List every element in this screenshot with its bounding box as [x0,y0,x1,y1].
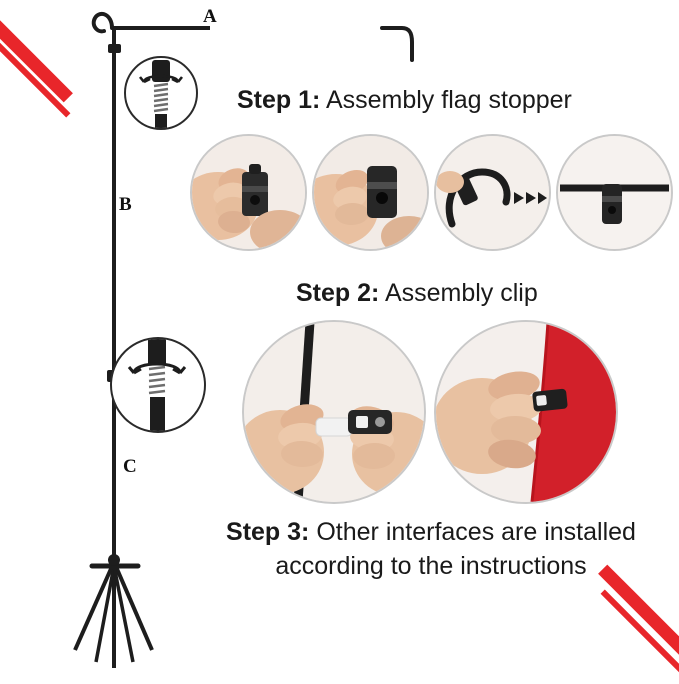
detail-circle-mid-joint [110,337,206,433]
step-3-text: Other interfaces are installed [316,518,636,546]
detail-circle-top-joint [124,56,198,130]
pole-label-c: C [123,456,137,478]
step-2-heading: Step 2: Assembly clip [296,279,538,308]
pole-label-a: A [203,6,217,28]
step-1-number: Step 1: [237,86,320,114]
step-1-heading: Step 1: Assembly flag stopper [237,86,572,115]
step-3-text-line2: according to the instructions [186,549,676,583]
photo-hand-holding-stopper [190,134,307,251]
step-3-number: Step 3: [226,518,309,546]
instruction-sheet: A B C Step 1: Assembly flag stopper [0,0,679,679]
pole-hook-right [380,10,420,70]
step-2-text: Assembly clip [385,279,538,307]
photo-stopper-sliding-onto-rod [434,134,551,251]
photo-hands-attaching-clip-to-pole [242,320,426,504]
photo-clip-holding-red-flag [434,320,618,504]
photo-stopper-installed-on-crossbar [556,134,673,251]
step-2-number: Step 2: [296,279,379,307]
pole-label-b: B [119,194,132,216]
step-1-text: Assembly flag stopper [326,86,572,114]
flag-stand-diagram: A B C [0,0,210,679]
photo-stopper-closeup [312,134,429,251]
step-3-heading: Step 3: Other interfaces are installed a… [186,515,676,583]
